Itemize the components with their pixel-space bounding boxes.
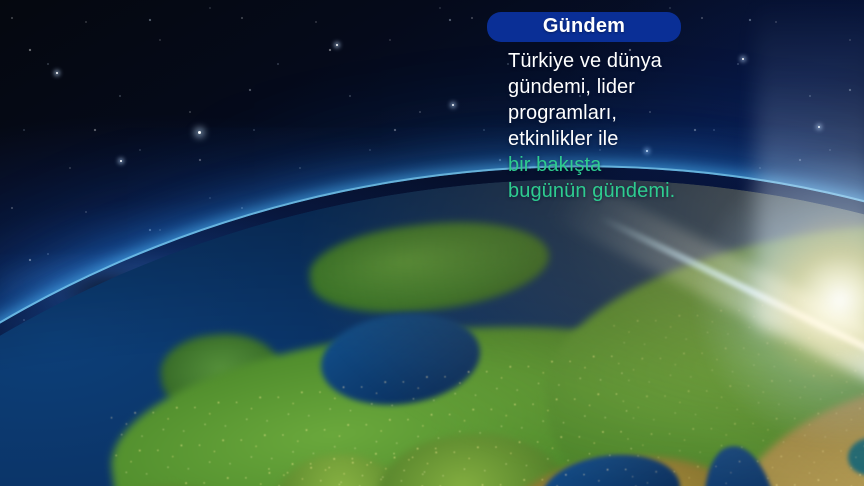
headline-line-1: Türkiye ve dünya [508,48,837,74]
headline-line-5: bir bakışta [508,152,837,178]
badge-label: Gündem [543,15,625,37]
headline-block: Türkiye ve dünya gündemi, lider programl… [487,48,837,204]
bright-star [56,72,58,74]
promo-graphic: Gündem Türkiye ve dünya gündemi, lider p… [0,0,864,486]
bright-star [198,131,201,134]
headline-line-2: gündemi, lider [508,74,837,100]
text-panel: Gündem Türkiye ve dünya gündemi, lider p… [487,12,837,204]
bright-star [452,104,454,106]
headline-line-4: etkinlikler ile [508,126,837,152]
bright-star [120,160,122,162]
gundem-badge: Gündem [487,12,681,42]
headline-line-6: bugünün gündemi. [508,178,837,204]
headline-line-3: programları, [508,100,837,126]
bright-star [336,44,338,46]
